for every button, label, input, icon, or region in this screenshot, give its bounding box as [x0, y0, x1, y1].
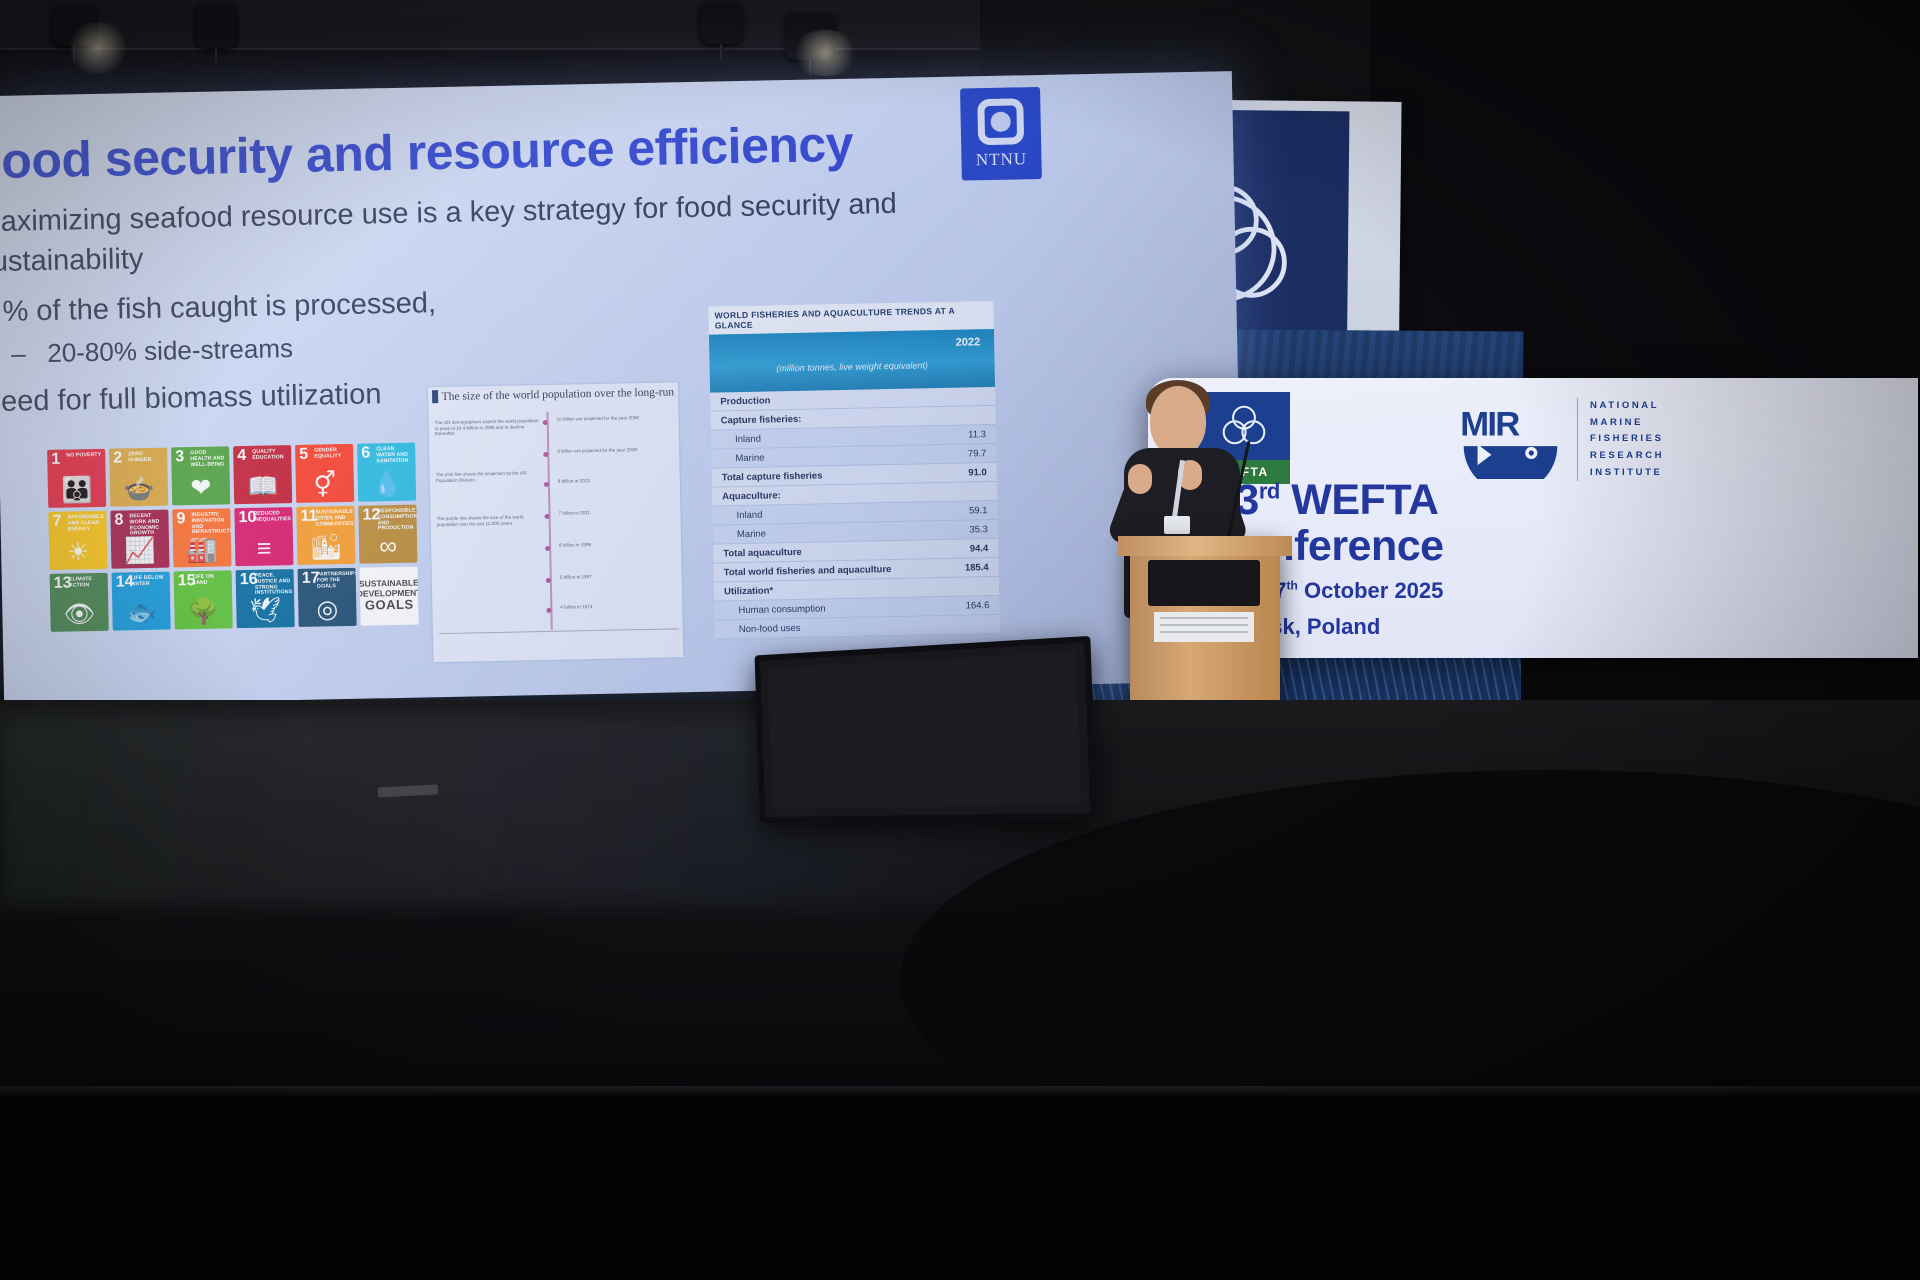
lectern-control-recess [1148, 560, 1260, 606]
chart-point-label-3: 8 billion in 2023 [558, 477, 654, 485]
slide-bullet-1-cont: sustainability [0, 243, 144, 279]
sdg-goal-number: 9 [176, 511, 185, 527]
sdg-goal-5: 5GENDER EQUALITY⚥ [295, 444, 354, 503]
monitor-screen [768, 651, 1082, 809]
light-glow [66, 22, 130, 74]
lectern-top [1118, 536, 1292, 556]
chart-point-label-4: 7 billion in 2011 [558, 509, 654, 517]
table-row-label: Marine [721, 452, 764, 464]
stage-light [700, 2, 742, 44]
sdg-goal-label: SUSTAINABLE CITIES AND COMMUNITIES [315, 510, 352, 528]
table-row-label: Total aquaculture [723, 546, 802, 559]
slide-sub-bullet: – 20-80% side-streams [11, 333, 293, 370]
sdg-goal-9: 9INDUSTRY, INNOVATION AND INFRASTRUCTURE… [172, 508, 231, 567]
table-row-label: Human consumption [724, 603, 825, 616]
sdg-goal-label: GENDER EQUALITY [314, 448, 351, 460]
chart-annotation-3: The purple line shows the size of the wo… [437, 514, 541, 528]
chart-point-label-2: 9 billion are projected for the year 203… [557, 447, 653, 455]
conference-name: WEFTA [1280, 476, 1439, 524]
sdg-goal-10: 10REDUCED INEQUALITIES≡ [234, 507, 293, 566]
sdg-goal-12: 12RESPONSIBLE CONSUMPTION AND PRODUCTION… [358, 505, 417, 564]
sdg-goal-15: 15LIFE ON LAND🌳 [174, 570, 233, 629]
slide-bullet-2: 0 % of the fish caught is processed, [0, 287, 436, 329]
sdg-goal-7: 7AFFORDABLE AND CLEAN ENERGY☀ [48, 511, 107, 570]
slide-bullet-3: Need for full biomass utilization [0, 378, 382, 419]
projection-screen: Food security and resource efficiency NT… [0, 71, 1244, 706]
chart-title: The size of the world population over th… [442, 386, 675, 403]
table-row-label: Marine [723, 528, 766, 540]
sdg-goal-number: 4 [237, 448, 246, 464]
slide-bullet-1: Maximizing seafood resource use is a key… [0, 188, 897, 239]
table-row-label: Inland [722, 509, 762, 521]
sdg-goal-label: PEACE, JUSTICE AND STRONG INSTITUTIONS [255, 573, 292, 597]
chart-point-label-6: 5 billion in 1987 [560, 573, 656, 581]
date-to-ordinal: th [1287, 579, 1298, 593]
table-row-label: Inland [721, 433, 761, 445]
sdg-goal-number: 7 [52, 514, 61, 530]
sdg-goal-number: 6 [361, 445, 370, 461]
chart-point-label-7: 4 billion in 1974 [560, 603, 656, 611]
sdg-goal-glyph-icon: 📈 [111, 539, 169, 565]
mir-logo: MIR NATIONAL MARINE FISHERIES RESEARCH I… [1458, 398, 1664, 481]
sdg-goal-label: LIFE BELOW WATER [131, 576, 168, 588]
table-unit-note: (million tonnes, live weight equivalent) [710, 359, 995, 375]
sdg-goal-glyph-icon: 🏙 [297, 535, 355, 561]
sdg-goal-6: 6CLEAN WATER AND SANITATION💧 [357, 443, 416, 502]
sdg-goal-label: CLEAN WATER AND SANITATION [376, 447, 413, 465]
institute-line: MARINE [1590, 415, 1664, 432]
mir-institute-name: NATIONAL MARINE FISHERIES RESEARCH INSTI… [1577, 398, 1664, 481]
sdg-goal-label: GOOD HEALTH AND WELL-BEING [190, 450, 227, 468]
sdg-goal-3: 3GOOD HEALTH AND WELL-BEING❤ [171, 446, 230, 505]
stage-light [196, 4, 236, 48]
table-row-value: 11.3 [968, 429, 986, 440]
confidence-monitor [755, 636, 1097, 823]
table-rows: ProductionCapture fisheries:Inland11.3Ma… [710, 387, 1000, 640]
sdg-goal-label: QUALITY EDUCATION [252, 449, 289, 461]
sdg-goal-number: 3 [175, 449, 184, 465]
table-row-label: Total world fisheries and aquaculture [724, 564, 892, 578]
table-header: 2022 (million tonnes, live weight equiva… [709, 329, 995, 393]
chart-body: The UN demographers expect the world pop… [428, 401, 683, 638]
sdg-goal-label: NO POVERTY [66, 453, 103, 460]
sdg-goal-glyph-icon: 📖 [234, 474, 292, 500]
sdg-goal-2: 2ZERO HUNGER🍲 [109, 448, 168, 507]
sdg-goal-label: LIFE ON LAND [193, 574, 230, 586]
sdg-goal-glyph-icon: 👁 [50, 602, 108, 628]
sdg-goal-label: RESPONSIBLE CONSUMPTION AND PRODUCTION [377, 509, 414, 533]
lectern-sign [1154, 612, 1254, 642]
world-population-chart: The size of the world population over th… [428, 382, 683, 662]
chart-x-axis [439, 628, 679, 634]
mir-fish-icon: MIR [1458, 401, 1563, 479]
chart-annotation-2: The pink line shows the projection by th… [436, 470, 540, 484]
chart-point-label-5: 6 billion in 1999 [559, 541, 655, 549]
sdg-icon-grid: 1NO POVERTY👪2ZERO HUNGER🍲3GOOD HEALTH AN… [47, 443, 419, 632]
table-row-value: 91.0 [968, 467, 987, 478]
conference-title-line1: 53rd WEFTA [1212, 478, 1444, 524]
table-row-label: Capture fisheries: [721, 413, 802, 426]
table-row-value: 94.4 [970, 543, 989, 554]
sdg-goal-11: 11SUSTAINABLE CITIES AND COMMUNITIES🏙 [296, 506, 355, 565]
table-row-label: Non-food uses [725, 622, 801, 635]
table-row-label: Production [720, 395, 770, 407]
sub-bullet-text: 20-80% side-streams [47, 333, 293, 368]
slide-title: Food security and resource efficiency [0, 115, 854, 191]
chart-timeline-axis [546, 412, 552, 630]
sdg-goal-17: 17PARTNERSHIPS FOR THE GOALS◎ [298, 568, 357, 627]
sdg-goal-glyph-icon: 🐟 [112, 601, 170, 627]
light-glow [790, 30, 860, 76]
sdg-goal-glyph-icon: ∞ [359, 534, 417, 560]
sdg-goal-glyph-icon: 🏭 [173, 537, 231, 563]
ntnu-logo-label: NTNU [976, 149, 1028, 170]
table-row-value: 35.3 [969, 524, 988, 535]
sdg-logo-line3: GOALS [365, 598, 414, 614]
table-row-value: 164.6 [966, 600, 990, 611]
table-row-value: 185.4 [965, 562, 989, 573]
fao-statistics-table: WORLD FISHERIES AND AQUACULTURE TRENDS A… [708, 301, 1000, 640]
table-row-value: 59.1 [969, 505, 988, 516]
chart-annotation-1: The UN demographers expect the world pop… [435, 418, 539, 437]
sdg-goal-glyph-icon: 🕊 [236, 598, 294, 624]
sdg-goal-13: 13CLIMATE ACTION👁 [50, 573, 109, 632]
table-row-label: Aquaculture: [722, 490, 781, 502]
sub-bullet-dash: – [11, 338, 26, 368]
sdg-goal-14: 14LIFE BELOW WATER🐟 [112, 572, 171, 631]
sdg-goal-glyph-icon: ◎ [298, 597, 356, 623]
sdg-goal-glyph-icon: ⚥ [296, 473, 354, 499]
sdg-goal-label: CLIMATE ACTION [69, 577, 106, 589]
sdg-goal-number: 5 [299, 447, 308, 463]
sdg-goal-4: 4QUALITY EDUCATION📖 [233, 445, 292, 504]
institute-line: RESEARCH [1590, 448, 1664, 465]
sdg-goal-8: 8DECENT WORK AND ECONOMIC GROWTH📈 [110, 510, 169, 569]
sdg-goal-glyph-icon: ☀ [49, 540, 107, 566]
stage-front-edge [0, 1086, 1920, 1096]
sdg-goal-glyph-icon: ≡ [235, 536, 293, 562]
sdg-goal-label: INDUSTRY, INNOVATION AND INFRASTRUCTURE [191, 512, 228, 536]
speaker-badge [1164, 516, 1190, 534]
stage-apron [0, 1096, 1920, 1280]
date-month-year: October 2025 [1298, 578, 1444, 603]
sdg-goals-logo: SUSTAINABLEDEVELOPMENTGOALS [360, 567, 419, 626]
sdg-goal-glyph-icon: ❤ [172, 475, 230, 501]
sdg-goal-number: 1 [51, 452, 60, 468]
sdg-goal-1: 1NO POVERTY👪 [47, 449, 106, 508]
table-row-label: Total capture fisheries [722, 470, 823, 483]
sdg-goal-label: DECENT WORK AND ECONOMIC GROWTH [129, 514, 166, 538]
sdg-goal-16: 16PEACE, JUSTICE AND STRONG INSTITUTIONS… [236, 569, 295, 628]
sdg-goal-glyph-icon: 👪 [48, 478, 106, 504]
sdg-goal-glyph-icon: 🍲 [110, 477, 168, 503]
sdg-goal-number: 2 [113, 450, 122, 466]
sdg-goal-label: ZERO HUNGER [128, 452, 165, 464]
svg-text:MIR: MIR [1460, 405, 1520, 443]
sdg-goal-glyph-icon: 💧 [358, 472, 416, 498]
table-row-value: 79.7 [968, 448, 987, 459]
institute-line: INSTITUTE [1590, 465, 1664, 482]
institute-line: NATIONAL [1590, 398, 1664, 415]
sdg-goal-label: PARTNERSHIPS FOR THE GOALS [317, 572, 354, 590]
ntnu-logo: NTNU [960, 87, 1042, 181]
auditorium-stage-scene: Food security and resource efficiency NT… [0, 0, 1920, 1280]
conference-ordinal: rd [1259, 479, 1280, 504]
sdg-goal-label: AFFORDABLE AND CLEAN ENERGY [67, 515, 104, 533]
table-row-label: Utilization* [724, 585, 773, 597]
chart-point-label-1: 10 billion are projected for the year 20… [557, 415, 653, 423]
sdg-goal-number: 8 [114, 512, 123, 528]
sdg-goal-glyph-icon: 🌳 [174, 599, 232, 625]
institute-line: FISHERIES [1590, 431, 1664, 448]
owid-logo-icon [432, 390, 438, 403]
ntnu-square-icon [977, 98, 1024, 145]
table-year-column-header: 2022 [956, 336, 981, 348]
speaker-head [1150, 386, 1206, 456]
speaker-hand-left [1128, 464, 1152, 494]
sdg-goal-label: REDUCED INEQUALITIES [253, 511, 290, 523]
